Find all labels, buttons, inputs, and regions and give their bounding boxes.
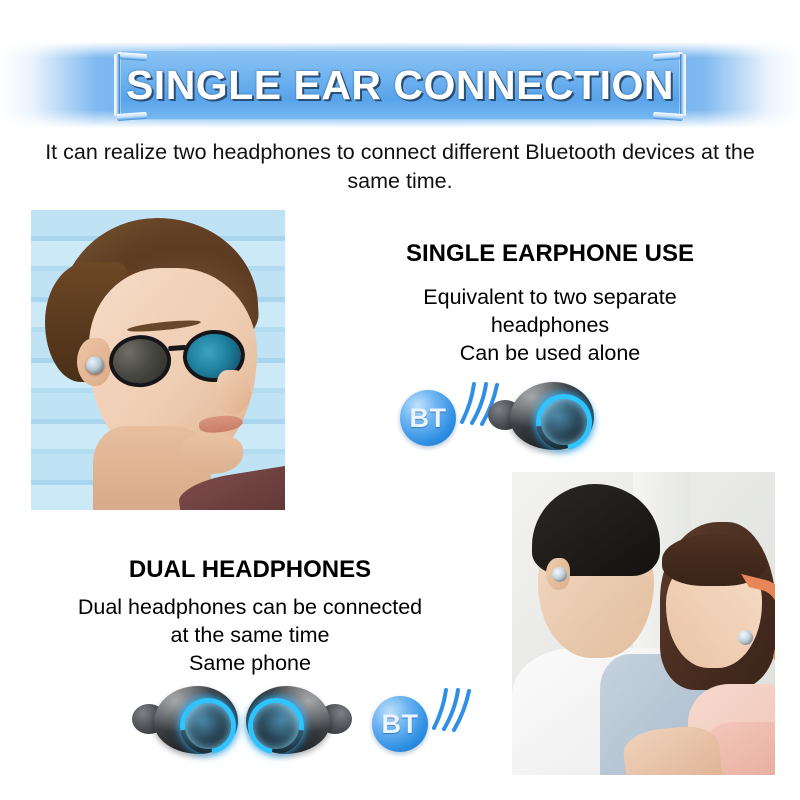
single-earphone-graphic: BT [398, 372, 598, 456]
man-chin [181, 434, 243, 474]
description-line: at the same time [20, 621, 480, 649]
single-earphone-description: Equivalent to two separate headphones Ca… [330, 283, 770, 367]
header-banner: SINGLE EAR CONNECTION [0, 42, 800, 128]
page-title: SINGLE EAR CONNECTION [0, 42, 800, 128]
earbud-left [132, 678, 242, 758]
man-nose [217, 370, 251, 414]
photo-man-with-earbud [31, 210, 285, 510]
bluetooth-badge-label: BT [410, 403, 447, 434]
description-line: Equivalent to two separate [330, 283, 770, 311]
dual-headphones-graphic: BT [132, 672, 454, 768]
earbud [488, 374, 598, 454]
woman-earbud [738, 630, 753, 645]
man-earbud [86, 356, 104, 374]
man-earbud [552, 567, 567, 582]
bluetooth-badge: BT [400, 390, 456, 446]
dual-headphones-heading: DUAL HEADPHONES [20, 556, 480, 584]
description-line: headphones [330, 311, 770, 339]
page-subtitle: It can realize two headphones to connect… [0, 138, 800, 196]
earbud-right [242, 678, 352, 758]
dual-headphones-description: Dual headphones can be connected at the … [20, 593, 480, 677]
photo-couple-with-earbuds [512, 472, 775, 775]
signal-waves-icon [424, 682, 478, 734]
bluetooth-badge: BT [372, 696, 428, 752]
description-line: Dual headphones can be connected [20, 593, 480, 621]
single-earphone-heading: SINGLE EARPHONE USE [330, 240, 770, 268]
bluetooth-badge-label: BT [382, 709, 419, 740]
description-line: Can be used alone [330, 339, 770, 367]
